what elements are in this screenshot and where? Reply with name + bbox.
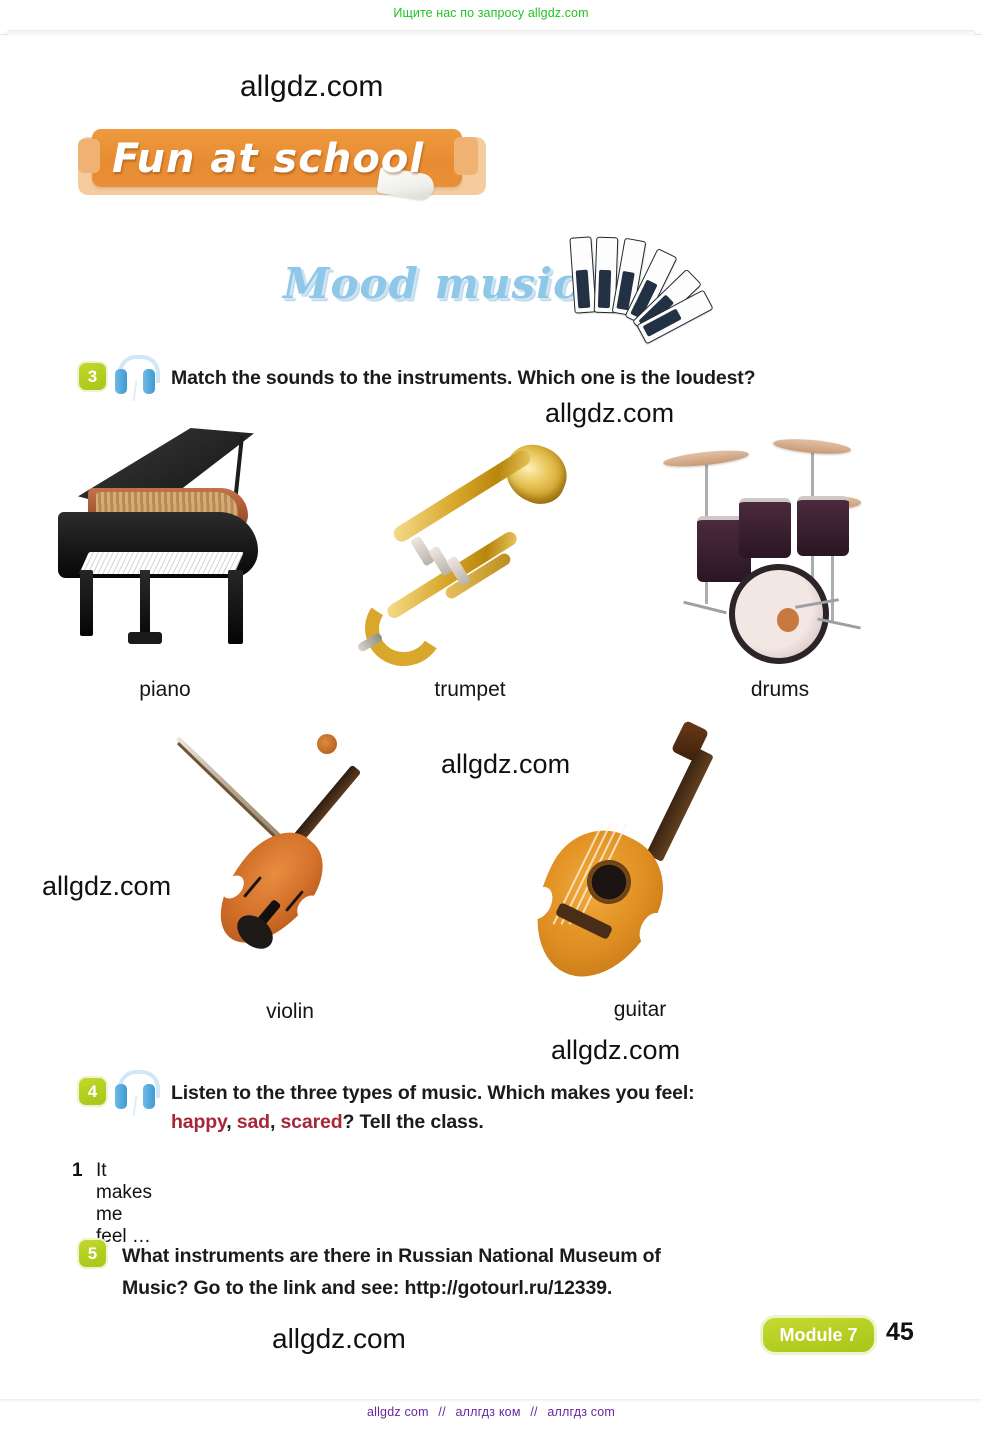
credit-separator-2: // [530,1405,537,1419]
fun-at-school-banner: Fun at school [78,123,486,205]
watermark-5: allgdz.com [551,1035,680,1066]
watermark-1: allgdz.com [240,70,383,104]
mood-music-title: Mood music [283,259,580,309]
exercise-3-text: Match the sounds to the instruments. Whi… [171,364,931,393]
watermark-4: allgdz.com [42,871,171,902]
footer-credits: allgdz com // аллгдз ком // аллгдз com [0,1405,982,1419]
credit-1: allgdz com [367,1405,429,1419]
instrument-label-piano: piano [40,678,290,702]
sep-2: , [270,1111,281,1133]
module-badge: Module 7 [763,1318,874,1352]
word-scared: scared [280,1111,342,1133]
instrument-cell-piano: piano [40,420,290,710]
instrument-label-trumpet: trumpet [355,678,585,702]
credit-3: аллгдз com [547,1405,615,1419]
sep-1: , [226,1111,237,1133]
exercise-5-text: What instruments are there in Russian Na… [122,1240,822,1304]
credit-2: аллгдз ком [455,1405,520,1419]
exercise-3-number[interactable]: 3 [79,363,106,390]
word-happy: happy [171,1111,226,1133]
watermark-6: allgdz.com [272,1323,406,1355]
exercise-5-number[interactable]: 5 [79,1240,106,1267]
exercise-5-line1: What instruments are there in Russian Na… [122,1245,661,1267]
exercise-5-line2: Music? Go to the link and see: http://go… [122,1277,612,1299]
page-number: 45 [886,1318,914,1347]
headphones-icon [113,1070,157,1110]
instrument-label-guitar: guitar [525,998,755,1022]
watermark-3: allgdz.com [441,749,570,780]
watermark-2: allgdz.com [545,398,674,429]
prompt-number: 1 [72,1160,83,1182]
fun-at-school-title: Fun at school [112,134,452,186]
mood-music-heading: Mood music [283,245,703,335]
instrument-label-drums: drums [655,678,905,702]
instrument-cell-drums: drums [655,430,905,710]
exercise-4-number[interactable]: 4 [79,1078,106,1105]
site-promo-banner: Ищите нас по запросу allgdz.com [0,6,982,20]
exercise-4-line1: Listen to the three types of music. Whic… [171,1082,694,1104]
headphones-icon [113,355,157,395]
exercise-4-line2-tail: ? Tell the class. [342,1111,483,1133]
instrument-label-violin: violin [175,1000,405,1024]
instrument-cell-violin: violin [175,722,405,1022]
instrument-cell-trumpet: trumpet [355,440,585,710]
credit-separator-1: // [438,1405,445,1419]
exercise-4-text: Listen to the three types of music. Whic… [171,1079,871,1137]
word-sad: sad [237,1111,270,1133]
piano-keys-icon [568,231,698,321]
